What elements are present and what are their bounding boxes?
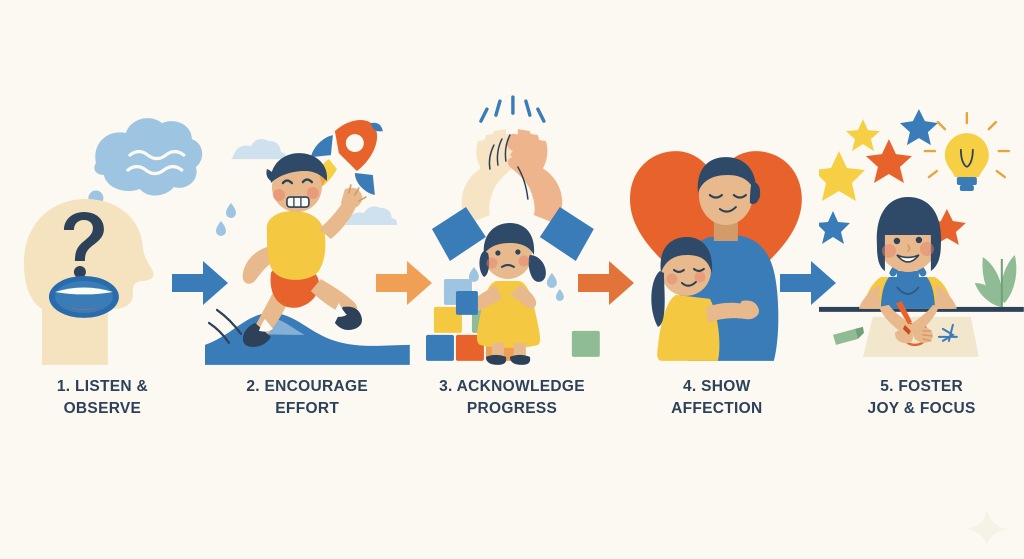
step-4-label-line-1: 4. SHOW xyxy=(614,376,819,398)
step-5-label: 5. FOSTER JOY & FOCUS xyxy=(819,376,1024,421)
scene-high-five-over-girl-stacking-blocks xyxy=(410,95,615,365)
hill-icon xyxy=(205,313,410,365)
ear-mouth-icon xyxy=(49,276,119,318)
scene-boy-running-uphill-with-rocket xyxy=(205,95,410,365)
infographic-canvas: 1. LISTEN & OBSERVE xyxy=(0,0,1024,559)
step-1-label-line-1: 1. LISTEN & xyxy=(0,376,205,398)
step-5-label-line-2: JOY & FOCUS xyxy=(819,398,1024,420)
arrow-step-4-to-5 xyxy=(780,258,836,308)
step-3-label-line-1: 3. ACKNOWLEDGE xyxy=(410,376,615,398)
step-1-label: 1. LISTEN & OBSERVE xyxy=(0,376,205,421)
step-5-label-line-1: 5. FOSTER xyxy=(819,376,1024,398)
scene-parent-hugging-child-in-heart xyxy=(614,95,819,365)
step-5-foster-joy-focus[interactable]: 5. FOSTER JOY & FOCUS xyxy=(819,0,1024,559)
step-3-label: 3. ACKNOWLEDGE PROGRESS xyxy=(410,376,615,421)
step-4-label-line-2: AFFECTION xyxy=(614,398,819,420)
steps-row: 1. LISTEN & OBSERVE xyxy=(0,0,1024,559)
step-1-label-line-2: OBSERVE xyxy=(0,398,205,420)
step-2-label-line-1: 2. ENCOURAGE xyxy=(205,376,410,398)
plant-icon xyxy=(975,255,1016,309)
step-2-label-line-2: EFFORT xyxy=(205,398,410,420)
sweat-drop-icon xyxy=(216,203,236,236)
arrow-step-2-to-3 xyxy=(376,258,432,308)
scene-head-with-thought-bubble xyxy=(0,95,205,365)
scene-girl-drawing-at-desk-with-stars xyxy=(819,95,1024,365)
lightbulb-icon xyxy=(925,113,1009,191)
step-3-label-line-2: PROGRESS xyxy=(410,398,615,420)
step-2-label: 2. ENCOURAGE EFFORT xyxy=(205,376,410,421)
impact-sparks-icon xyxy=(481,97,544,121)
arrow-step-3-to-4 xyxy=(578,258,634,308)
step-4-label: 4. SHOW AFFECTION xyxy=(614,376,819,421)
running-boy-icon xyxy=(242,153,365,347)
arrow-step-1-to-2 xyxy=(172,258,228,308)
